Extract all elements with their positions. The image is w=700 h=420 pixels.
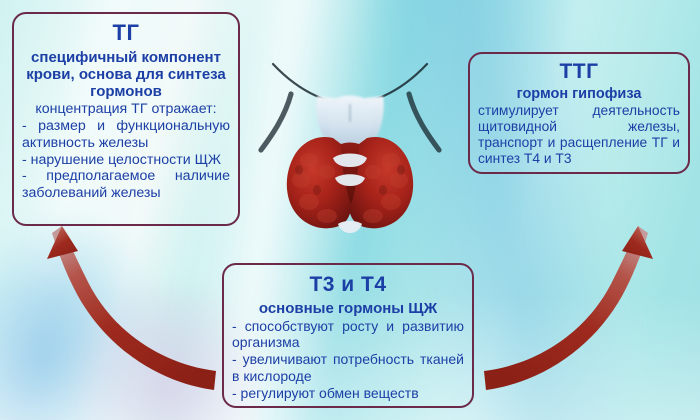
tg-lead: концентрация ТГ отражает: [22,101,230,118]
tg-title: ТГ [22,21,230,46]
t3t4-line-2: - увеличивают потребность тканей в кисло… [232,351,464,385]
t3t4-title: Т3 и Т4 [232,273,464,297]
ttg-subtitle: гормон гипофиза [478,86,680,103]
t3t4-line-3: - регулируют обмен веществ [232,385,464,402]
ttg-title: ТТГ [478,60,680,84]
t3t4-subtitle: основные гормоны ЩЖ [232,300,464,317]
t3t4-lines: - способствуют росту и развитию организм… [232,318,464,402]
ttg-line-1: стимулирует деятельность щитовидной желе… [478,103,680,167]
tg-lines: концентрация ТГ отражает: - размер и фун… [22,101,230,202]
tg-line-2: - нарушение целостности ЩЖ [22,152,230,169]
t3t4-line-1: - способствуют росту и развитию организм… [232,318,464,352]
info-box-ttg: ТТГ гормон гипофиза стимулирует деятельн… [468,52,690,174]
tg-subtitle: специфичный компонент крови, основа для … [22,49,230,100]
tg-line-3: - предполагаемое наличие заболеваний жел… [22,168,230,202]
ttg-lines: стимулирует деятельность щитовидной желе… [478,103,680,167]
thyroid-diagram: ТГ специфичный компонент крови, основа д… [0,0,700,420]
info-box-t3t4: Т3 и Т4 основные гормоны ЩЖ - способству… [222,263,474,408]
thyroid-gland-illustration [255,38,445,243]
info-box-tg: ТГ специфичный компонент крови, основа д… [12,12,240,226]
tg-line-1: - размер и функциональную активность жел… [22,118,230,152]
